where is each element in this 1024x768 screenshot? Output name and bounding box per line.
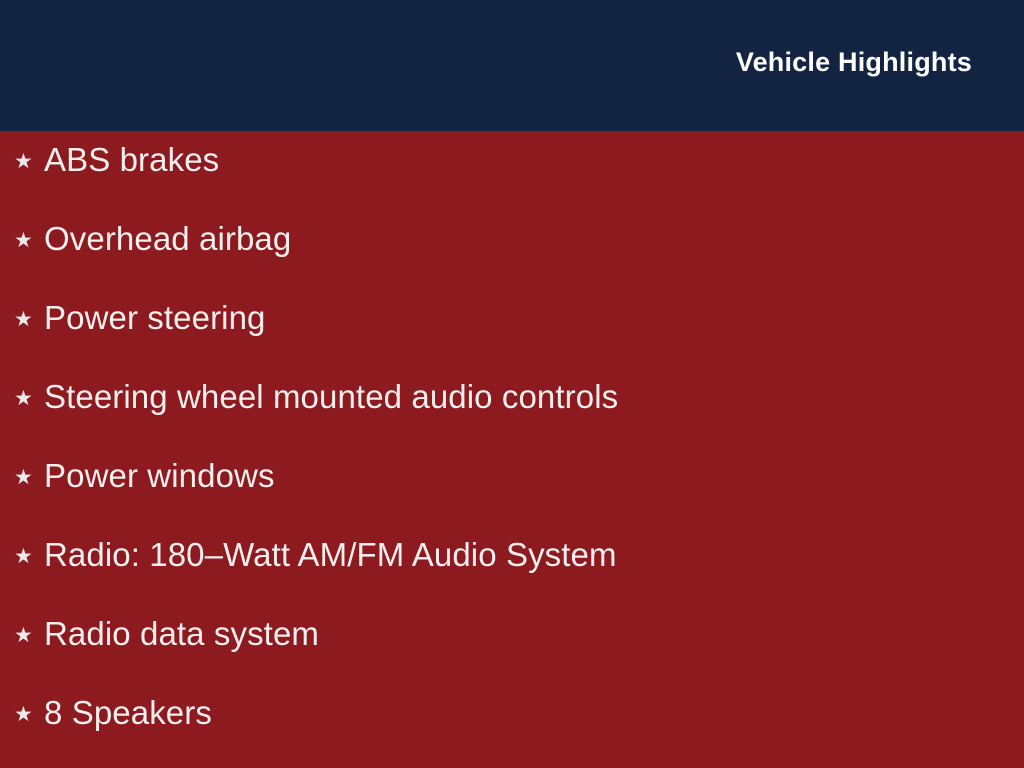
list-item: ★ 8 Speakers bbox=[14, 696, 1024, 768]
slide-body: ★ ABS brakes ★ Overhead airbag ★ Power s… bbox=[0, 131, 1024, 768]
list-item-label: Power steering bbox=[44, 301, 266, 334]
list-item-label: Power windows bbox=[44, 459, 275, 492]
star-bullet-icon: ★ bbox=[14, 309, 44, 330]
list-item: ★ Radio data system bbox=[14, 617, 1024, 696]
list-item-label: 8 Speakers bbox=[44, 696, 212, 729]
list-item: ★ Overhead airbag bbox=[14, 222, 1024, 301]
star-bullet-icon: ★ bbox=[14, 467, 44, 488]
list-item-label: Steering wheel mounted audio controls bbox=[44, 380, 618, 413]
vehicle-highlights-list: ★ ABS brakes ★ Overhead airbag ★ Power s… bbox=[14, 143, 1024, 768]
star-bullet-icon: ★ bbox=[14, 546, 44, 567]
list-item-label: Radio data system bbox=[44, 617, 319, 650]
list-item: ★ Radio: 180–Watt AM/FM Audio System bbox=[14, 538, 1024, 617]
list-item: ★ Steering wheel mounted audio controls bbox=[14, 380, 1024, 459]
list-item-label: Overhead airbag bbox=[44, 222, 291, 255]
star-bullet-icon: ★ bbox=[14, 625, 44, 646]
list-item-label: Radio: 180–Watt AM/FM Audio System bbox=[44, 538, 617, 571]
list-item-label: ABS brakes bbox=[44, 143, 219, 176]
vehicle-highlights-slide: Vehicle Highlights ★ ABS brakes ★ Overhe… bbox=[0, 0, 1024, 768]
slide-header-band: Vehicle Highlights bbox=[0, 0, 1024, 131]
list-item: ★ Power steering bbox=[14, 301, 1024, 380]
page-title: Vehicle Highlights bbox=[736, 49, 972, 76]
list-item: ★ ABS brakes bbox=[14, 143, 1024, 222]
star-bullet-icon: ★ bbox=[14, 704, 44, 725]
star-bullet-icon: ★ bbox=[14, 388, 44, 409]
star-bullet-icon: ★ bbox=[14, 230, 44, 251]
star-bullet-icon: ★ bbox=[14, 151, 44, 172]
list-item: ★ Power windows bbox=[14, 459, 1024, 538]
